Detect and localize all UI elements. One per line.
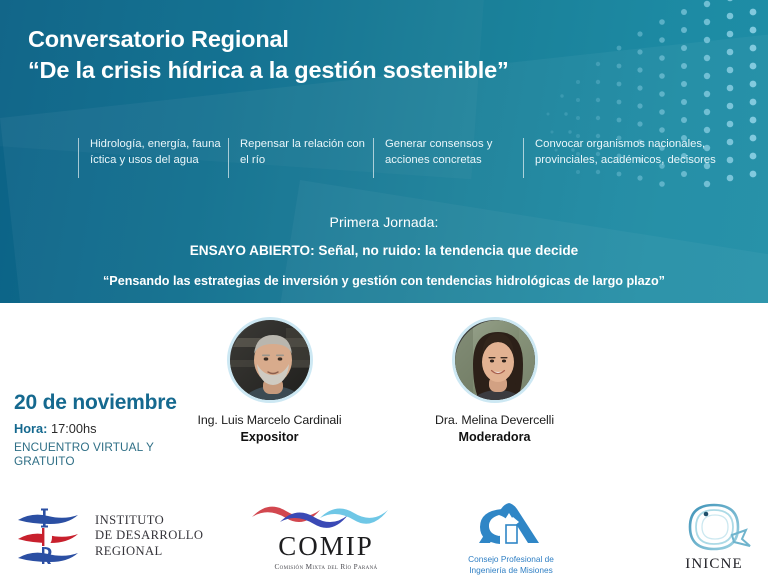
title-line-1: Conversatorio Regional <box>28 24 648 55</box>
jornada-block: Primera Jornada: ENSAYO ABIERTO: Señal, … <box>0 214 768 288</box>
speaker-photo-cardinali <box>227 317 313 403</box>
pillar-hidrologia: Hidrología, energía, fauna íctica y usos… <box>78 136 228 168</box>
title-line-2: “De la crisis hídrica a la gestión soste… <box>28 55 648 86</box>
avatar-image-cardinali <box>230 320 310 400</box>
jornada-main-title: ENSAYO ABIERTO: Señal, no ruido: la tend… <box>0 243 768 258</box>
cpim-monogram-icon <box>468 499 554 551</box>
time-label: Hora: <box>14 421 47 436</box>
speaker-role-expositor: Expositor <box>172 430 367 444</box>
idr-line-2: DE DESARROLLO <box>95 528 203 543</box>
pillar-consensos: Generar consensos y acciones concretas <box>373 136 523 168</box>
pillar-relacion-rio: Repensar la relación con el río <box>228 136 373 168</box>
speaker-name-devercelli: Dra. Melina Devercelli <box>397 413 592 427</box>
speaker-card-expositor: Ing. Luis Marcelo Cardinali Expositor <box>172 317 367 444</box>
speaker-role-moderadora: Moderadora <box>397 430 592 444</box>
cpim-subtitle-line-1: Consejo Profesional de <box>468 554 554 565</box>
comip-waves-icon <box>246 501 406 531</box>
flyer-title: Conversatorio Regional “De la crisis híd… <box>28 24 648 87</box>
idr-mark-icon <box>14 507 86 565</box>
comip-subtitle: Comisión Mixta del Río Paraná <box>274 563 377 571</box>
comip-wordmark: COMIP <box>278 533 374 560</box>
jornada-subtitle: “Pensando las estrategias de inversión y… <box>0 274 768 288</box>
cpim-subtitle: Consejo Profesional de Ingeniería de Mis… <box>468 554 554 576</box>
speaker-photo-devercelli <box>452 317 538 403</box>
instituto-de-desarrollo-regional-logo: INSTITUTO DE DESARROLLO REGIONAL <box>14 507 203 565</box>
sponsor-logos: INSTITUTO DE DESARROLLO REGIONAL COMIP C… <box>0 495 768 583</box>
speaker-card-moderadora: Dra. Melina Devercelli Moderadora <box>397 317 592 444</box>
speaker-name-cardinali: Ing. Luis Marcelo Cardinali <box>172 413 367 427</box>
inicne-wordmark: INICNE <box>685 556 742 573</box>
cpim-subtitle-line-2: Ingeniería de Misiones <box>468 565 554 576</box>
event-flyer: Conversatorio Regional “De la crisis híd… <box>0 0 768 582</box>
meeting-note: ENCUENTRO VIRTUAL Y GRATUITO <box>14 440 204 468</box>
pillar-organismos: Convocar organismos nacionales, provinci… <box>523 136 723 168</box>
lower-section: 20 de noviembre Hora: 17:00hs ENCUENTRO … <box>0 303 768 582</box>
comip-logo: COMIP Comisión Mixta del Río Paraná <box>246 501 406 571</box>
idr-line-1: INSTITUTO <box>95 513 203 528</box>
speakers-row: Ing. Luis Marcelo Cardinali Expositor <box>172 317 592 444</box>
topic-pillars: Hidrología, energía, fauna íctica y usos… <box>78 136 738 168</box>
consejo-profesional-ingenieria-misiones-logo: Consejo Profesional de Ingeniería de Mis… <box>468 499 554 576</box>
jornada-label: Primera Jornada: <box>0 214 768 230</box>
idr-line-3: REGIONAL <box>95 544 203 559</box>
idr-wordmark: INSTITUTO DE DESARROLLO REGIONAL <box>95 513 203 559</box>
hero-banner: Conversatorio Regional “De la crisis híd… <box>0 0 768 303</box>
inicne-logo: INICNE <box>676 499 752 573</box>
inicne-fish-icon <box>676 499 752 555</box>
avatar-image-devercelli <box>455 320 535 400</box>
time-value: 17:00hs <box>51 421 97 436</box>
